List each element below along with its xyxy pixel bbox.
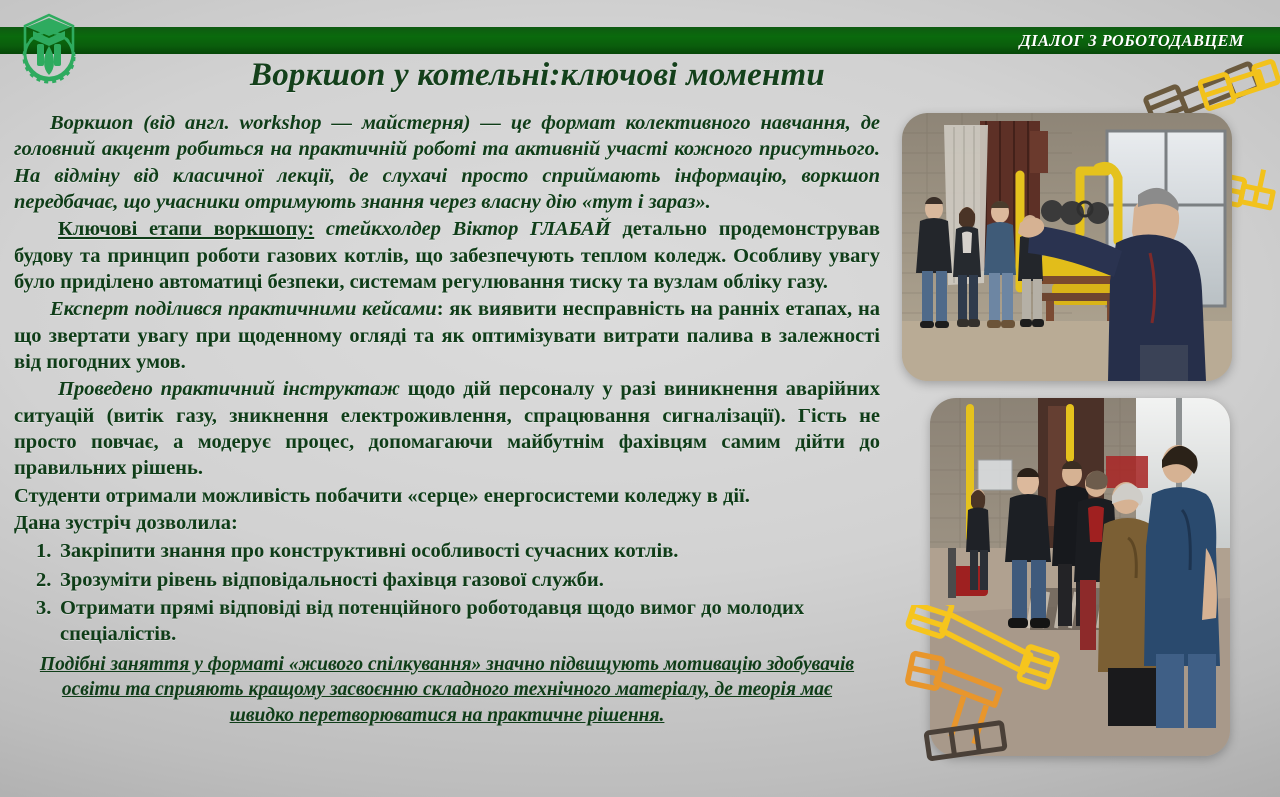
students-line: Студенти отримали можливість побачити «с… — [14, 483, 880, 509]
list-item: Закріпити знання про конструктивні особл… — [14, 538, 880, 564]
svg-text:19: 19 — [36, 34, 44, 41]
closing-statement: Подібні заняття у форматі «живого спілку… — [14, 652, 880, 729]
paragraph-practical-briefing: Проведено практичний інструктаж щодо дій… — [14, 376, 880, 481]
photo-group-listening — [930, 398, 1230, 756]
key-stages-heading: Ключові етапи воркшопу: — [58, 218, 314, 240]
stakeholder-name: стейкхолдер Віктор ГЛАБАЙ — [314, 218, 611, 240]
photo-boiler-room-demonstration — [902, 113, 1232, 381]
paragraph-key-stages: Ключові етапи воркшопу: стейкхолдер Вікт… — [14, 216, 880, 295]
list-item: Зрозуміти рівень відповідальності фахівц… — [14, 567, 880, 593]
meeting-intro-line: Дана зустріч дозволила: — [14, 510, 880, 536]
paragraph-expert-cases: Експерт поділився практичними кейсами: я… — [14, 296, 880, 375]
svg-text:30: 30 — [54, 34, 62, 41]
outcomes-list: Закріпити знання про конструктивні особл… — [14, 538, 880, 647]
list-item: Отримати прямі відповіді від потенційног… — [14, 595, 880, 648]
banner-label: ДІАЛОГ З РОБОТОДАВЦЕМ — [1020, 28, 1245, 54]
briefing-heading: Проведено практичний інструктаж — [58, 378, 400, 400]
page-title: Воркшоп у котельні:ключові моменти — [0, 57, 1075, 94]
expert-cases-heading: Експерт поділився практичними кейсами — [50, 298, 437, 320]
content-column: Воркшоп (від англ. workshop — майстерня)… — [14, 110, 880, 729]
paragraph-intro: Воркшоп (від англ. workshop — майстерня)… — [14, 110, 880, 215]
college-emblem-logo: 19 30 — [9, 6, 89, 86]
